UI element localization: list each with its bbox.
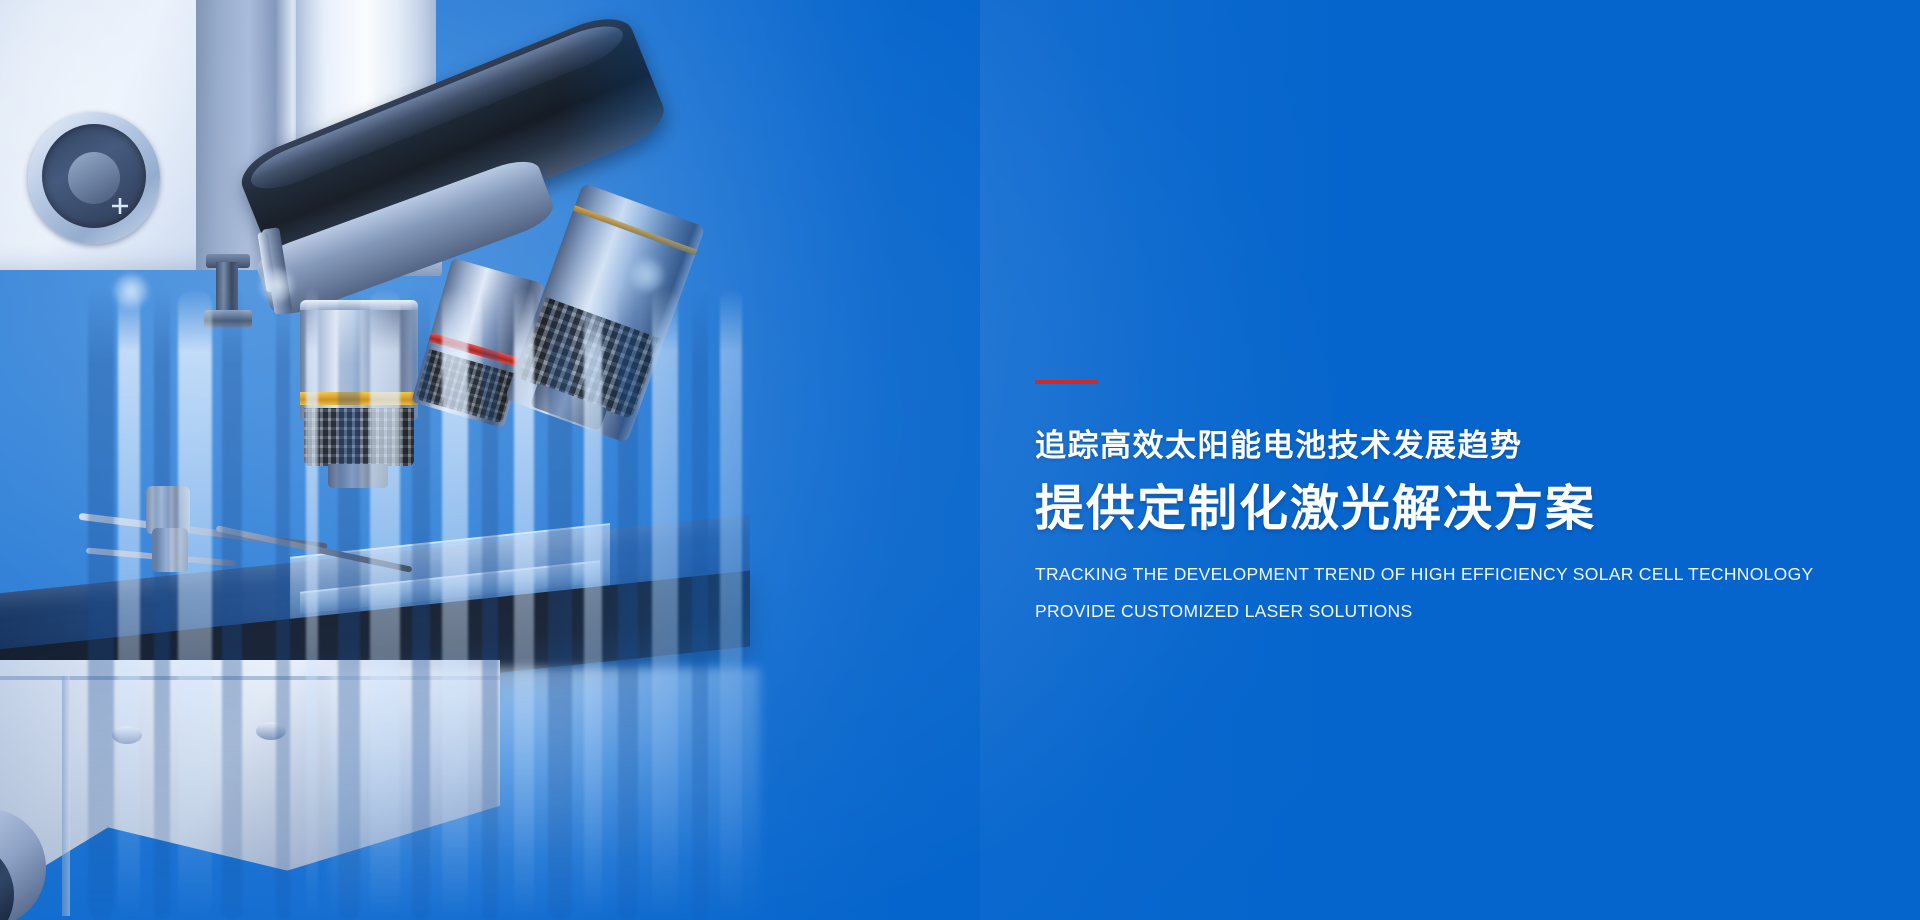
banner-content: 追踪高效太阳能电池技术发展趋势 提供定制化激光解决方案 TRACKING THE… xyxy=(1035,380,1835,621)
banner-english-line-2: PROVIDE CUSTOMIZED LASER SOLUTIONS xyxy=(1035,603,1835,621)
banner-subheadline-cn: 追踪高效太阳能电池技术发展趋势 xyxy=(1035,430,1835,461)
banner-english-line-1: TRACKING THE DEVELOPMENT TREND OF HIGH E… xyxy=(1035,566,1835,584)
accent-bar xyxy=(1035,380,1098,384)
hero-banner: 追踪高效太阳能电池技术发展趋势 提供定制化激光解决方案 TRACKING THE… xyxy=(0,0,1920,920)
banner-headline-cn: 提供定制化激光解决方案 xyxy=(1035,483,1835,536)
